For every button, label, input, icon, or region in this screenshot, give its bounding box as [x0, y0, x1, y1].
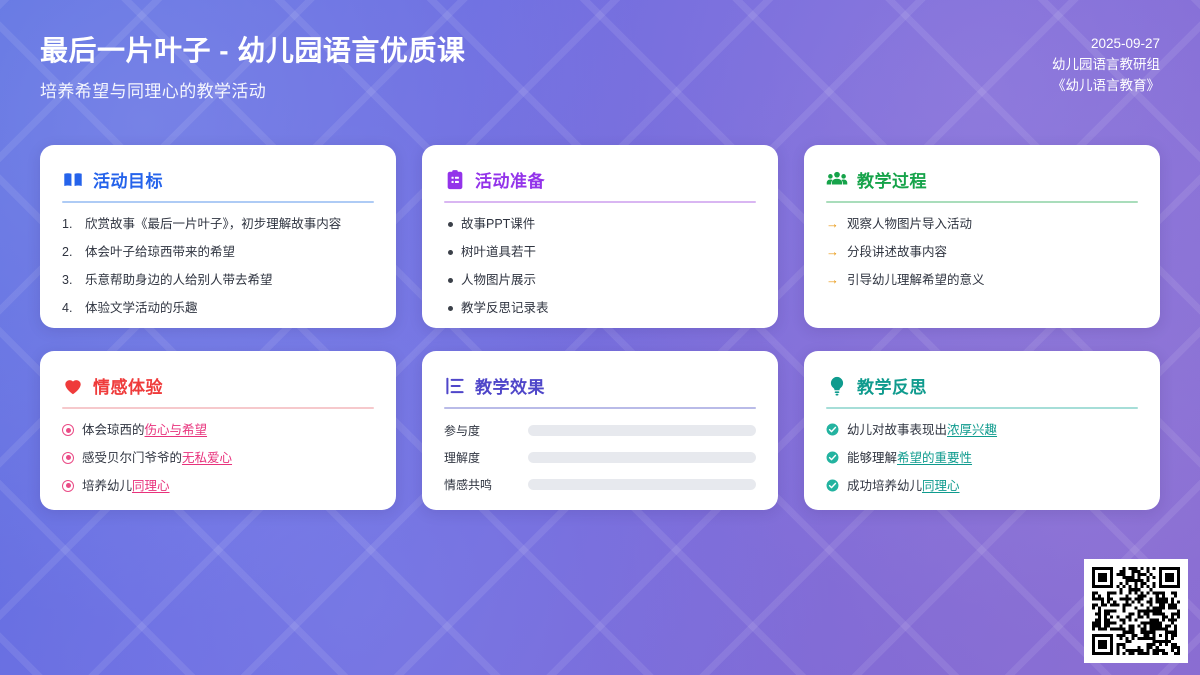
list-text-highlight: 希望的重要性	[897, 451, 972, 465]
qr-code-image	[1092, 567, 1180, 655]
metric-row: 情感共鸣	[444, 476, 756, 493]
bullseye-icon	[62, 452, 74, 464]
card-rule	[444, 407, 756, 409]
list-item: 4. 体验文学活动的乐趣	[62, 300, 374, 317]
list-text: 故事PPT课件	[461, 216, 756, 233]
card-title: 活动准备	[475, 167, 545, 192]
card-teaching-effect: 教学效果 参与度 理解度 情感共鸣	[422, 351, 778, 510]
list-item: 树叶道具若干	[444, 244, 756, 261]
progress-track	[528, 452, 756, 463]
bullet-dot-icon	[448, 250, 453, 255]
list-item: 能够理解希望的重要性	[826, 450, 1138, 467]
check-circle-icon	[826, 451, 839, 464]
list-text: 体验文学活动的乐趣	[85, 300, 374, 317]
list-text: 引导幼儿理解希望的意义	[847, 272, 1138, 289]
list-text: 欣赏故事《最后一片叶子》，初步理解故事内容	[85, 216, 374, 233]
list-number: 3.	[62, 272, 77, 289]
card-header: 教学效果	[444, 373, 756, 398]
bar-poll-icon	[444, 375, 466, 397]
check-circle-icon	[826, 479, 839, 492]
list-text: 能够理解希望的重要性	[847, 450, 1138, 467]
header-titles: 最后一片叶子 - 幼儿园语言优质课 培养希望与同理心的教学活动	[40, 34, 465, 102]
card-title: 教学效果	[475, 373, 545, 398]
list-item: 故事PPT课件	[444, 216, 756, 233]
bullseye-icon	[62, 424, 74, 436]
list-text-plain: 幼儿对故事表现出	[847, 423, 947, 437]
list-number: 2.	[62, 244, 77, 261]
qr-code[interactable]	[1084, 559, 1188, 663]
list-item: 成功培养幼儿同理心	[826, 478, 1138, 495]
list-text-plain: 感受贝尔门爷爷的	[82, 451, 182, 465]
check-circle-icon	[826, 423, 839, 436]
list-text: 培养幼儿同理心	[82, 478, 374, 495]
arrow-right-icon: →	[826, 217, 839, 230]
list-text: 成功培养幼儿同理心	[847, 478, 1138, 495]
list-text-highlight: 伤心与希望	[145, 423, 208, 437]
list-item: → 观察人物图片导入活动	[826, 216, 1138, 233]
card-header: 教学过程	[826, 167, 1138, 192]
list-item: 培养幼儿同理心	[62, 478, 374, 495]
clipboard-icon	[444, 169, 466, 191]
bullet-dot-icon	[448, 278, 453, 283]
page-title: 最后一片叶子 - 幼儿园语言优质课	[40, 34, 465, 69]
metric-label: 情感共鸣	[444, 476, 514, 493]
card-activity-goals: 活动目标 1. 欣赏故事《最后一片叶子》，初步理解故事内容 2. 体会叶子给琼西…	[40, 145, 396, 328]
card-rule	[826, 407, 1138, 409]
list-text-plain: 成功培养幼儿	[847, 479, 922, 493]
list-number: 4.	[62, 300, 77, 317]
arrow-right-icon: →	[826, 245, 839, 258]
card-grid: 活动目标 1. 欣赏故事《最后一片叶子》，初步理解故事内容 2. 体会叶子给琼西…	[40, 145, 1160, 510]
goals-list: 1. 欣赏故事《最后一片叶子》，初步理解故事内容 2. 体会叶子给琼西带来的希望…	[62, 216, 374, 317]
header-source: 《幼儿语言教育》	[1052, 76, 1160, 97]
metrics-list: 参与度 理解度 情感共鸣	[444, 422, 756, 493]
header-meta: 2025-09-27 幼儿园语言教研组 《幼儿语言教育》	[1052, 34, 1160, 97]
slide-root: 最后一片叶子 - 幼儿园语言优质课 培养希望与同理心的教学活动 2025-09-…	[0, 0, 1200, 675]
list-text: 感受贝尔门爷爷的无私爱心	[82, 450, 374, 467]
people-group-icon	[826, 169, 848, 191]
card-teaching-process: 教学过程 → 观察人物图片导入活动 → 分段讲述故事内容 → 引导幼儿理解希望的…	[804, 145, 1160, 328]
card-rule	[62, 201, 374, 203]
list-text: 人物图片展示	[461, 272, 756, 289]
emotion-list: 体会琼西的伤心与希望 感受贝尔门爷爷的无私爱心 培养幼儿同理心	[62, 422, 374, 495]
metric-row: 理解度	[444, 449, 756, 466]
card-teaching-reflection: 教学反思 幼儿对故事表现出浓厚兴趣 能够理解希望的重要性	[804, 351, 1160, 510]
heart-icon	[62, 375, 84, 397]
metric-row: 参与度	[444, 422, 756, 439]
page-subtitle: 培养希望与同理心的教学活动	[40, 77, 465, 102]
list-item: 体会琼西的伤心与希望	[62, 422, 374, 439]
list-text-plain: 体会琼西的	[82, 423, 145, 437]
header-date: 2025-09-27	[1052, 34, 1160, 55]
list-text: 分段讲述故事内容	[847, 244, 1138, 261]
list-item: 1. 欣赏故事《最后一片叶子》，初步理解故事内容	[62, 216, 374, 233]
reflection-list: 幼儿对故事表现出浓厚兴趣 能够理解希望的重要性 成功培养幼儿同理心	[826, 422, 1138, 495]
progress-track	[528, 425, 756, 436]
list-text-highlight: 同理心	[922, 479, 960, 493]
list-item: 3. 乐意帮助身边的人给别人带去希望	[62, 272, 374, 289]
bullet-dot-icon	[448, 306, 453, 311]
arrow-right-icon: →	[826, 273, 839, 286]
list-text-plain: 培养幼儿	[82, 479, 132, 493]
progress-track	[528, 479, 756, 490]
preparation-list: 故事PPT课件 树叶道具若干 人物图片展示 教学反思记录表	[444, 216, 756, 317]
list-text: 观察人物图片导入活动	[847, 216, 1138, 233]
card-rule	[826, 201, 1138, 203]
list-text: 乐意帮助身边的人给别人带去希望	[85, 272, 374, 289]
card-emotional-experience: 情感体验 体会琼西的伤心与希望 感受贝尔门爷爷的无私爱心 培养幼儿同理心	[40, 351, 396, 510]
list-text-plain: 能够理解	[847, 451, 897, 465]
card-rule	[444, 201, 756, 203]
card-rule	[62, 407, 374, 409]
lightbulb-icon	[826, 375, 848, 397]
list-item: 幼儿对故事表现出浓厚兴趣	[826, 422, 1138, 439]
header-org: 幼儿园语言教研组	[1052, 55, 1160, 76]
list-text: 体会叶子给琼西带来的希望	[85, 244, 374, 261]
card-title: 教学过程	[857, 167, 927, 192]
list-item: 2. 体会叶子给琼西带来的希望	[62, 244, 374, 261]
card-header: 情感体验	[62, 373, 374, 398]
card-title: 教学反思	[857, 373, 927, 398]
card-header: 活动准备	[444, 167, 756, 192]
list-text-highlight: 同理心	[132, 479, 170, 493]
list-text-highlight: 浓厚兴趣	[947, 423, 997, 437]
list-number: 1.	[62, 216, 77, 233]
open-book-icon	[62, 169, 84, 191]
process-list: → 观察人物图片导入活动 → 分段讲述故事内容 → 引导幼儿理解希望的意义	[826, 216, 1138, 289]
card-title: 情感体验	[93, 373, 163, 398]
metric-label: 理解度	[444, 449, 514, 466]
metric-label: 参与度	[444, 422, 514, 439]
list-text: 树叶道具若干	[461, 244, 756, 261]
list-text: 体会琼西的伤心与希望	[82, 422, 374, 439]
list-item: 教学反思记录表	[444, 300, 756, 317]
list-item: → 分段讲述故事内容	[826, 244, 1138, 261]
list-text-highlight: 无私爱心	[182, 451, 232, 465]
bullet-dot-icon	[448, 222, 453, 227]
card-activity-preparation: 活动准备 故事PPT课件 树叶道具若干 人物图片展示 教学反思记	[422, 145, 778, 328]
slide-header: 最后一片叶子 - 幼儿园语言优质课 培养希望与同理心的教学活动 2025-09-…	[0, 0, 1200, 132]
list-item: 人物图片展示	[444, 272, 756, 289]
list-item: → 引导幼儿理解希望的意义	[826, 272, 1138, 289]
list-item: 感受贝尔门爷爷的无私爱心	[62, 450, 374, 467]
list-text: 幼儿对故事表现出浓厚兴趣	[847, 422, 1138, 439]
bullseye-icon	[62, 480, 74, 492]
card-header: 教学反思	[826, 373, 1138, 398]
list-text: 教学反思记录表	[461, 300, 756, 317]
card-header: 活动目标	[62, 167, 374, 192]
card-title: 活动目标	[93, 167, 163, 192]
